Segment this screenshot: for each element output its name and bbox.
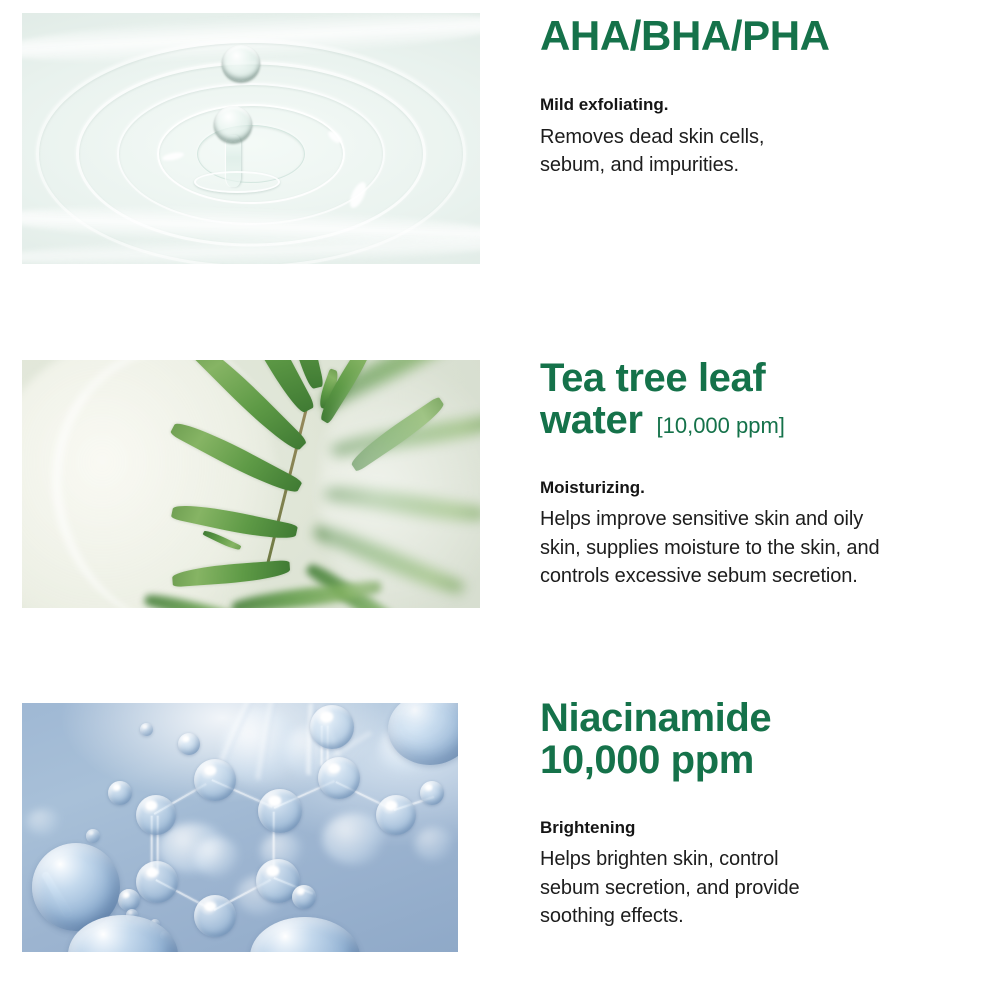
atom-5 xyxy=(376,795,416,835)
water-droplet-image xyxy=(22,13,480,264)
atom-4 xyxy=(318,757,360,799)
section-3-body-line-3: soothing effects. xyxy=(540,902,980,930)
atom-7 xyxy=(194,895,236,937)
section-2-text: Tea tree leaf water[10,000 ppm] Moisturi… xyxy=(540,358,990,590)
bokeh-10 xyxy=(26,809,62,835)
splash-ring xyxy=(194,171,280,193)
falling-droplet-icon xyxy=(222,45,260,81)
section-3-subheading: Brightening xyxy=(540,817,980,840)
section-3-heading-line-1: Niacinamide xyxy=(540,698,980,740)
section-3-heading-line-2: 10,000 ppm xyxy=(540,740,980,782)
atom-11 xyxy=(292,885,316,909)
section-1-body-line-2: sebum, and impurities. xyxy=(540,151,980,179)
section-2-subheading: Moisturizing. xyxy=(540,477,990,500)
atom-3 xyxy=(258,789,302,833)
atom-2 xyxy=(194,759,236,801)
atom-9 xyxy=(310,705,354,749)
section-2-heading-word: water xyxy=(540,398,643,442)
infographic-page: AHA/BHA/PHA Mild exfoliating. Removes de… xyxy=(0,0,1000,1000)
section-2-heading-line-2: water[10,000 ppm] xyxy=(540,400,990,442)
section-1-body-line-1: Removes dead skin cells, xyxy=(540,123,980,151)
atom-14 xyxy=(118,889,140,911)
atom-16 xyxy=(86,829,100,843)
bokeh-5 xyxy=(194,837,240,877)
section-2-ppm-label: [10,000 ppm] xyxy=(657,413,785,438)
section-3-body-line-1: Helps brighten skin, control xyxy=(540,845,980,873)
bokeh-8 xyxy=(414,827,454,861)
atom-12 xyxy=(108,781,132,805)
section-2-body-line-1: Helps improve sensitive skin and oily xyxy=(540,505,990,533)
atom-15 xyxy=(140,723,153,736)
section-3-body-line-2: sebum secretion, and provide xyxy=(540,874,980,902)
atom-13 xyxy=(178,733,200,755)
section-3-text: Niacinamide 10,000 ppm Brightening Helps… xyxy=(540,698,980,930)
soft-light-sweep xyxy=(320,360,480,608)
section-2-body-line-3: controls excessive sebum secretion. xyxy=(540,562,990,590)
atom-6 xyxy=(136,861,178,903)
atom-10 xyxy=(420,781,444,805)
rising-droplet-icon xyxy=(214,106,252,142)
section-1-subheading: Mild exfoliating. xyxy=(540,94,980,117)
atom-1 xyxy=(136,795,176,835)
molecule-image xyxy=(22,703,458,952)
section-2-heading-line-1: Tea tree leaf xyxy=(540,358,990,400)
tea-tree-leaf-image xyxy=(22,360,480,608)
section-1-text: AHA/BHA/PHA Mild exfoliating. Removes de… xyxy=(540,14,980,179)
section-1-heading: AHA/BHA/PHA xyxy=(540,14,980,58)
section-2-body-line-2: skin, supplies moisture to the skin, and xyxy=(540,534,990,562)
